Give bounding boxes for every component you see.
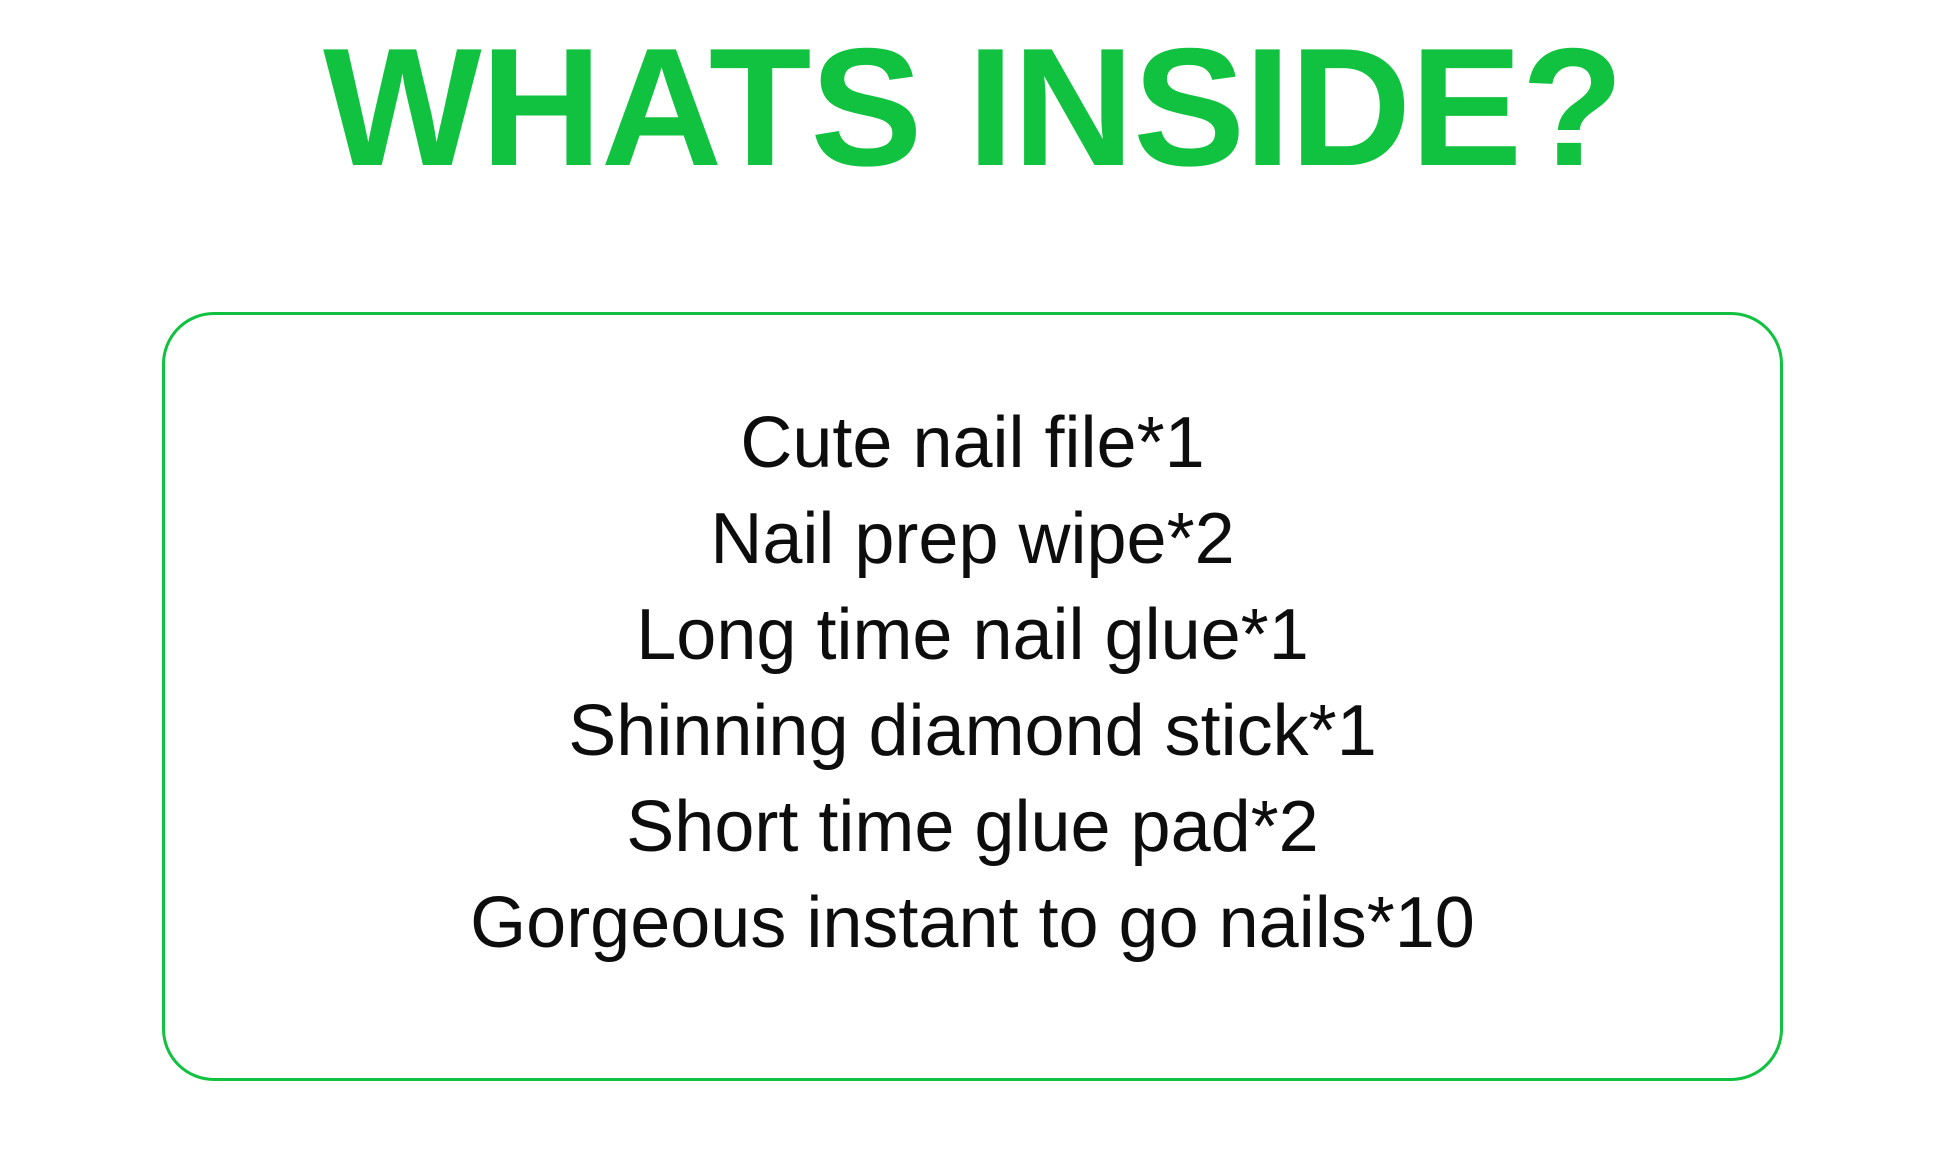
list-item: Long time nail glue*1 — [165, 587, 1780, 683]
contents-list: Cute nail file*1 Nail prep wipe*2 Long t… — [165, 395, 1780, 971]
list-item: Short time glue pad*2 — [165, 779, 1780, 875]
contents-panel: Cute nail file*1 Nail prep wipe*2 Long t… — [162, 312, 1783, 1081]
contents-panel-body: Cute nail file*1 Nail prep wipe*2 Long t… — [165, 315, 1780, 1078]
list-item: Nail prep wipe*2 — [165, 491, 1780, 587]
list-item: Cute nail file*1 — [165, 395, 1780, 491]
page-title: WHATS INSIDE? — [0, 14, 1946, 200]
list-item: Gorgeous instant to go nails*10 — [165, 875, 1780, 971]
infographic-page: WHATS INSIDE? Cute nail file*1 Nail prep… — [0, 0, 1946, 1160]
list-item: Shinning diamond stick*1 — [165, 683, 1780, 779]
